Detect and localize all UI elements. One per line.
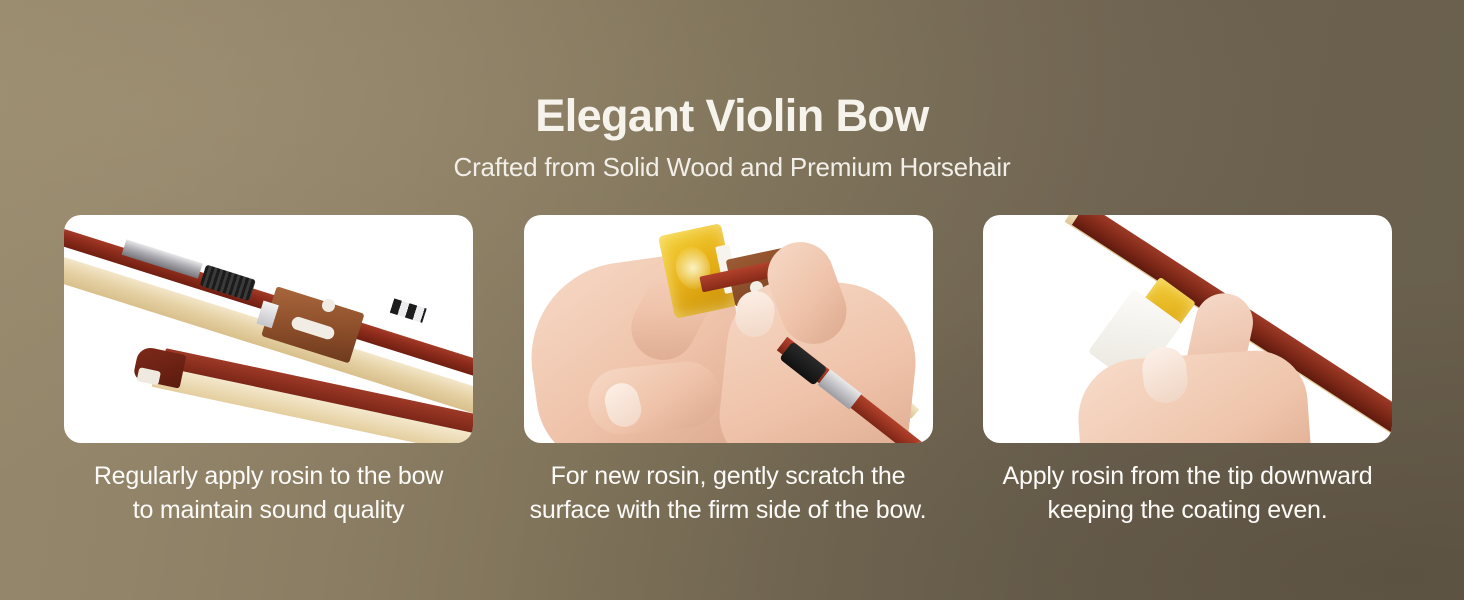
caption-line-2: keeping the coating even. [983, 494, 1392, 528]
caption-line-2: surface with the firm side of the bow. [524, 494, 933, 528]
feature-card: For new rosin, gently scratch the surfac… [524, 215, 933, 527]
feature-card: Regularly apply rosin to the bow to main… [64, 215, 473, 527]
page-subtitle: Crafted from Solid Wood and Premium Hors… [0, 152, 1464, 183]
page-title: Elegant Violin Bow [0, 92, 1464, 140]
caption-line-1: Apply rosin from the tip downward [983, 460, 1392, 494]
caption-line-1: For new rosin, gently scratch the [524, 460, 933, 494]
feature-image-applying-rosin [983, 215, 1392, 443]
frog-pearl-eye [322, 299, 335, 312]
feature-caption: Apply rosin from the tip downward keepin… [983, 460, 1392, 527]
feature-card: Apply rosin from the tip downward keepin… [983, 215, 1392, 527]
caption-line-2: to maintain sound quality [64, 494, 473, 528]
banner-header: Elegant Violin Bow Crafted from Solid Wo… [0, 92, 1464, 183]
feature-card-list: Regularly apply rosin to the bow to main… [64, 215, 1392, 527]
feature-caption: Regularly apply rosin to the bow to main… [64, 460, 473, 527]
feature-image-hands-scratching-rosin [524, 215, 933, 443]
caption-line-1: Regularly apply rosin to the bow [64, 460, 473, 494]
frog-checkered-band [390, 298, 427, 323]
feature-image-bow-frog-closeup [64, 215, 473, 443]
feature-caption: For new rosin, gently scratch the surfac… [524, 460, 933, 527]
product-banner: Elegant Violin Bow Crafted from Solid Wo… [0, 0, 1464, 600]
